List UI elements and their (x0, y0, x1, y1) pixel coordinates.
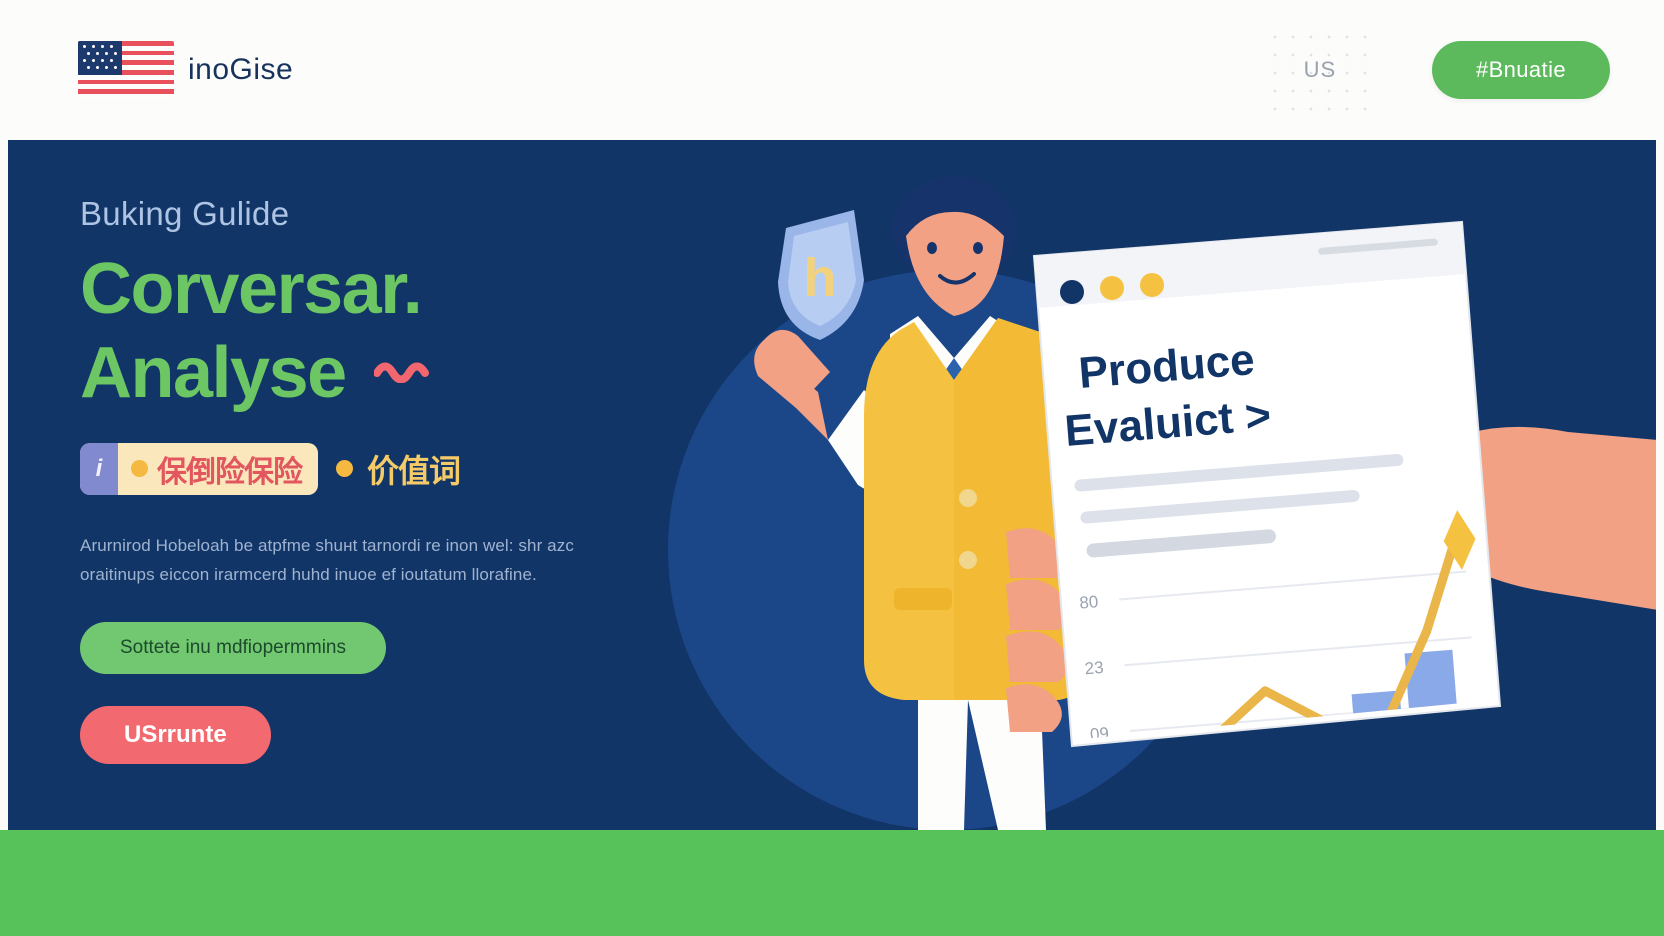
site-header: inoGise US #Bnuatie (0, 0, 1664, 140)
squiggle-underline-icon (374, 325, 434, 351)
info-icon: i (80, 443, 118, 495)
device-card: Produce Evaluict > 80 (1034, 222, 1500, 830)
ytick-0: 80 (1079, 592, 1099, 612)
window-dot-dark (1060, 280, 1084, 304)
hero-description: Arurnirod Hobeloah be atpfme shuнt tarno… (80, 531, 650, 591)
bar-2 (1242, 720, 1296, 802)
hero-primary-button[interactable]: Sottete inu mdfiopermmins (80, 622, 386, 674)
xtick-4: 885 (1364, 801, 1394, 822)
shield-letter: h (804, 248, 837, 308)
ytick-1: 23 (1084, 658, 1104, 678)
xtick-0: 00 (1143, 820, 1163, 830)
badge-value[interactable]: 价值词 (336, 446, 460, 492)
bullet-dot-icon-2 (336, 460, 353, 477)
badge-insurance-content: 保倒险保险 (118, 443, 318, 495)
hero-copy-block: Buking Gulide Corversar. Analyse i (80, 195, 700, 764)
badge-value-label: 价值词 (367, 446, 460, 492)
badge-insurance-label: 保倒险保险 (157, 447, 302, 491)
language-label: US (1304, 57, 1337, 83)
bar-3 (1301, 757, 1352, 797)
hero-headline: Corversar. Analyse (80, 255, 700, 409)
header-actions: US #Bnuatie (1266, 28, 1610, 112)
header-cta-button[interactable]: #Bnuatie (1432, 41, 1610, 99)
hero-headline-line-2-wrap: Analyse (80, 325, 700, 409)
landing-page-hero: inoGise US #Bnuatie Buking Gulide Corver… (0, 0, 1664, 936)
footer-accent-bar (0, 830, 1664, 936)
language-selector[interactable]: US (1266, 28, 1374, 112)
hero-eyebrow: Buking Gulide (80, 195, 700, 233)
hero-headline-line-2: Analyse (80, 339, 346, 409)
us-flag-icon (78, 41, 174, 99)
xtick-3: 08 (1311, 806, 1331, 826)
xtick-5: 34L (1420, 797, 1450, 818)
bullet-dot-icon (131, 460, 148, 477)
bar-1 (1186, 732, 1239, 806)
brand-name: inoGise (188, 53, 293, 87)
badge-insurance[interactable]: i 保倒险保险 (80, 443, 318, 495)
bar-0 (1136, 784, 1182, 811)
xtick-1: 04 (1199, 815, 1219, 830)
window-dot-yellow-2 (1140, 273, 1164, 297)
hero-badge-row: i 保倒险保险 价值词 (80, 443, 700, 495)
hero-headline-line-1: Corversar. (80, 255, 700, 325)
window-dot-yellow-1 (1100, 276, 1124, 300)
hero-danger-button[interactable]: USrrunte (80, 706, 271, 764)
brand-logo[interactable]: inoGise (78, 41, 293, 99)
hero-section: Buking Gulide Corversar. Analyse i (8, 140, 1656, 830)
bar-4 (1352, 690, 1408, 792)
xtick-2: 0G0 (1251, 810, 1285, 830)
hero-illustration: h (668, 140, 1656, 830)
